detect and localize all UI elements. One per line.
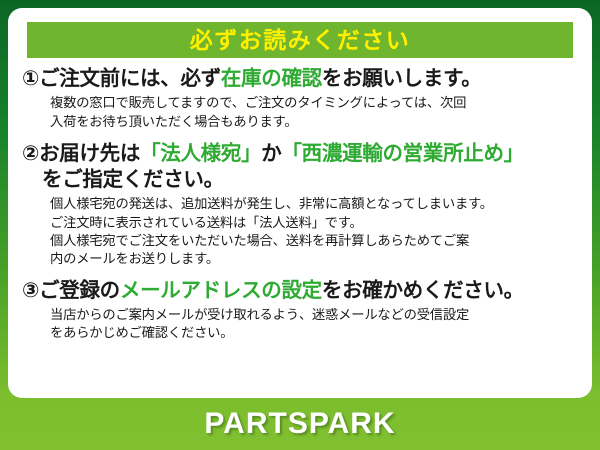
item-number-2: ② [22, 142, 39, 165]
item-2-heading-part-3: か [261, 142, 281, 165]
notice-item-2-heading: ②お届け先は「法人様宛」か「西濃運輸の営業所止め」 [22, 141, 582, 167]
notice-card: 必ずお読みください ①ご注文前には、必ず在庫の確認をお願いします。 複数の窓口で… [8, 8, 592, 398]
item-number-1: ① [22, 67, 39, 90]
item-2-heading-highlight-1: 「法人様宛」 [140, 142, 261, 165]
item-2-heading-highlight-2: 「西濃運輸の営業所止め」 [281, 142, 523, 165]
item-1-heading-part-3: をお願いします。 [322, 67, 482, 90]
notice-item-1-body: 複数の窓口で販売してますので、ご注文のタイミングによっては、次回 入荷をお待ち頂… [50, 94, 582, 131]
notice-item-2-body: 個人様宅宛の発送は、追加送料が発生し、非常に高額となってしまいます。 ご注文時に… [50, 195, 582, 268]
notice-item-3-heading: ③ご登録のメールアドレスの設定をお確かめください。 [22, 278, 582, 304]
header-banner: 必ずお読みください [27, 22, 573, 58]
notice-item-2: ②お届け先は「法人様宛」か「西濃運輸の営業所止め」 をご指定ください。 個人様宅… [8, 141, 592, 269]
item-3-heading-highlight: メールアドレスの設定 [120, 279, 322, 302]
item-1-heading-part-1: ご注文前には、必ず [39, 67, 221, 90]
notice-banner: 必ずお読みください ①ご注文前には、必ず在庫の確認をお願いします。 複数の窓口で… [0, 0, 600, 450]
notice-item-3-body: 当店からのご案内メールが受け取れるよう、迷惑メールなどの受信設定 をあらかじめご… [50, 306, 582, 343]
notice-item-1: ①ご注文前には、必ず在庫の確認をお願いします。 複数の窓口で販売してますので、ご… [8, 66, 592, 131]
page-title: 必ずお読みください [190, 29, 411, 52]
notice-item-1-heading: ①ご注文前には、必ず在庫の確認をお願いします。 [22, 66, 582, 92]
notice-item-3: ③ご登録のメールアドレスの設定をお確かめください。 当店からのご案内メールが受け… [8, 278, 592, 343]
notice-item-2-heading-line2: をご指定ください。 [42, 167, 582, 193]
item-1-heading-highlight: 在庫の確認 [221, 67, 322, 90]
item-3-heading-part-3: をお確かめください。 [322, 279, 524, 302]
item-2-heading-part-1: お届け先は [39, 142, 140, 165]
brand-logo: PARTSPARK [204, 407, 395, 441]
item-number-3: ③ [22, 279, 39, 302]
notice-item-list: ①ご注文前には、必ず在庫の確認をお願いします。 複数の窓口で販売してますので、ご… [8, 66, 592, 343]
footer-bar: PARTSPARK [0, 398, 600, 450]
item-3-heading-part-1: ご登録の [39, 279, 120, 302]
